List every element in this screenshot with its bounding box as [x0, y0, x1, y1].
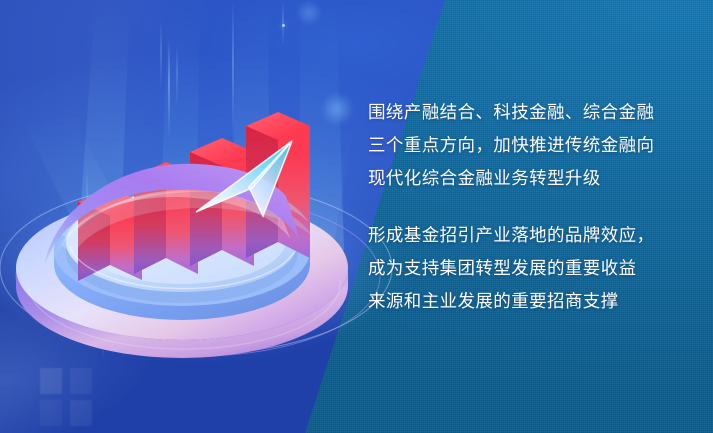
paragraph-1: 围绕产融结合、科技金融、综合金融 三个重点方向，加快推进传统金融向 现代化综合金… [368, 96, 688, 195]
paragraph-2-line-2: 成为支持集团转型发展的重要收益 [368, 252, 688, 285]
paragraph-2-line-1: 形成基金招引产业落地的品牌效应， [368, 219, 688, 252]
text-content: 围绕产融结合、科技金融、综合金融 三个重点方向，加快推进传统金融向 现代化综合金… [368, 96, 688, 318]
paragraph-1-line-1: 围绕产融结合、科技金融、综合金融 [368, 96, 688, 129]
paragraph-1-line-3: 现代化综合金融业务转型升级 [368, 162, 688, 195]
paragraph-2-line-3: 来源和主业发展的重要招商支撑 [368, 285, 688, 318]
paragraph-1-line-2: 三个重点方向，加快推进传统金融向 [368, 129, 688, 162]
paragraph-2: 形成基金招引产业落地的品牌效应， 成为支持集团转型发展的重要收益 来源和主业发展… [368, 219, 688, 318]
banner-root: 围绕产融结合、科技金融、综合金融 三个重点方向，加快推进传统金融向 现代化综合金… [0, 0, 713, 433]
